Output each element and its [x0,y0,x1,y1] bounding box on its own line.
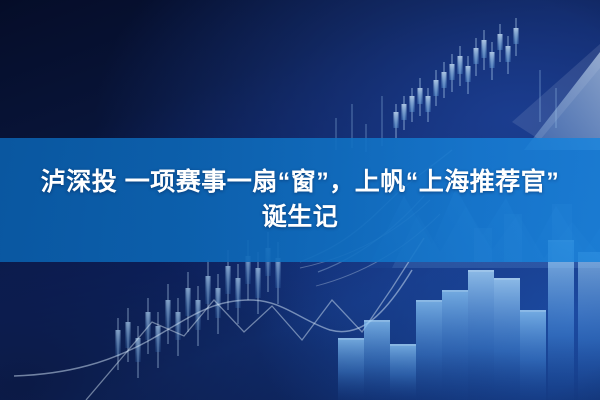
headline-banner: 泸深投 一项赛事一扇“窗”，上帆“上海推荐官” 诞生记 [0,138,600,262]
headline-line-2: 诞生记 [262,200,339,236]
cover-image: 泸深投 一项赛事一扇“窗”，上帆“上海推荐官” 诞生记 [0,0,600,400]
headline-line-1: 泸深投 一项赛事一扇“窗”，上帆“上海推荐官” [41,165,559,201]
